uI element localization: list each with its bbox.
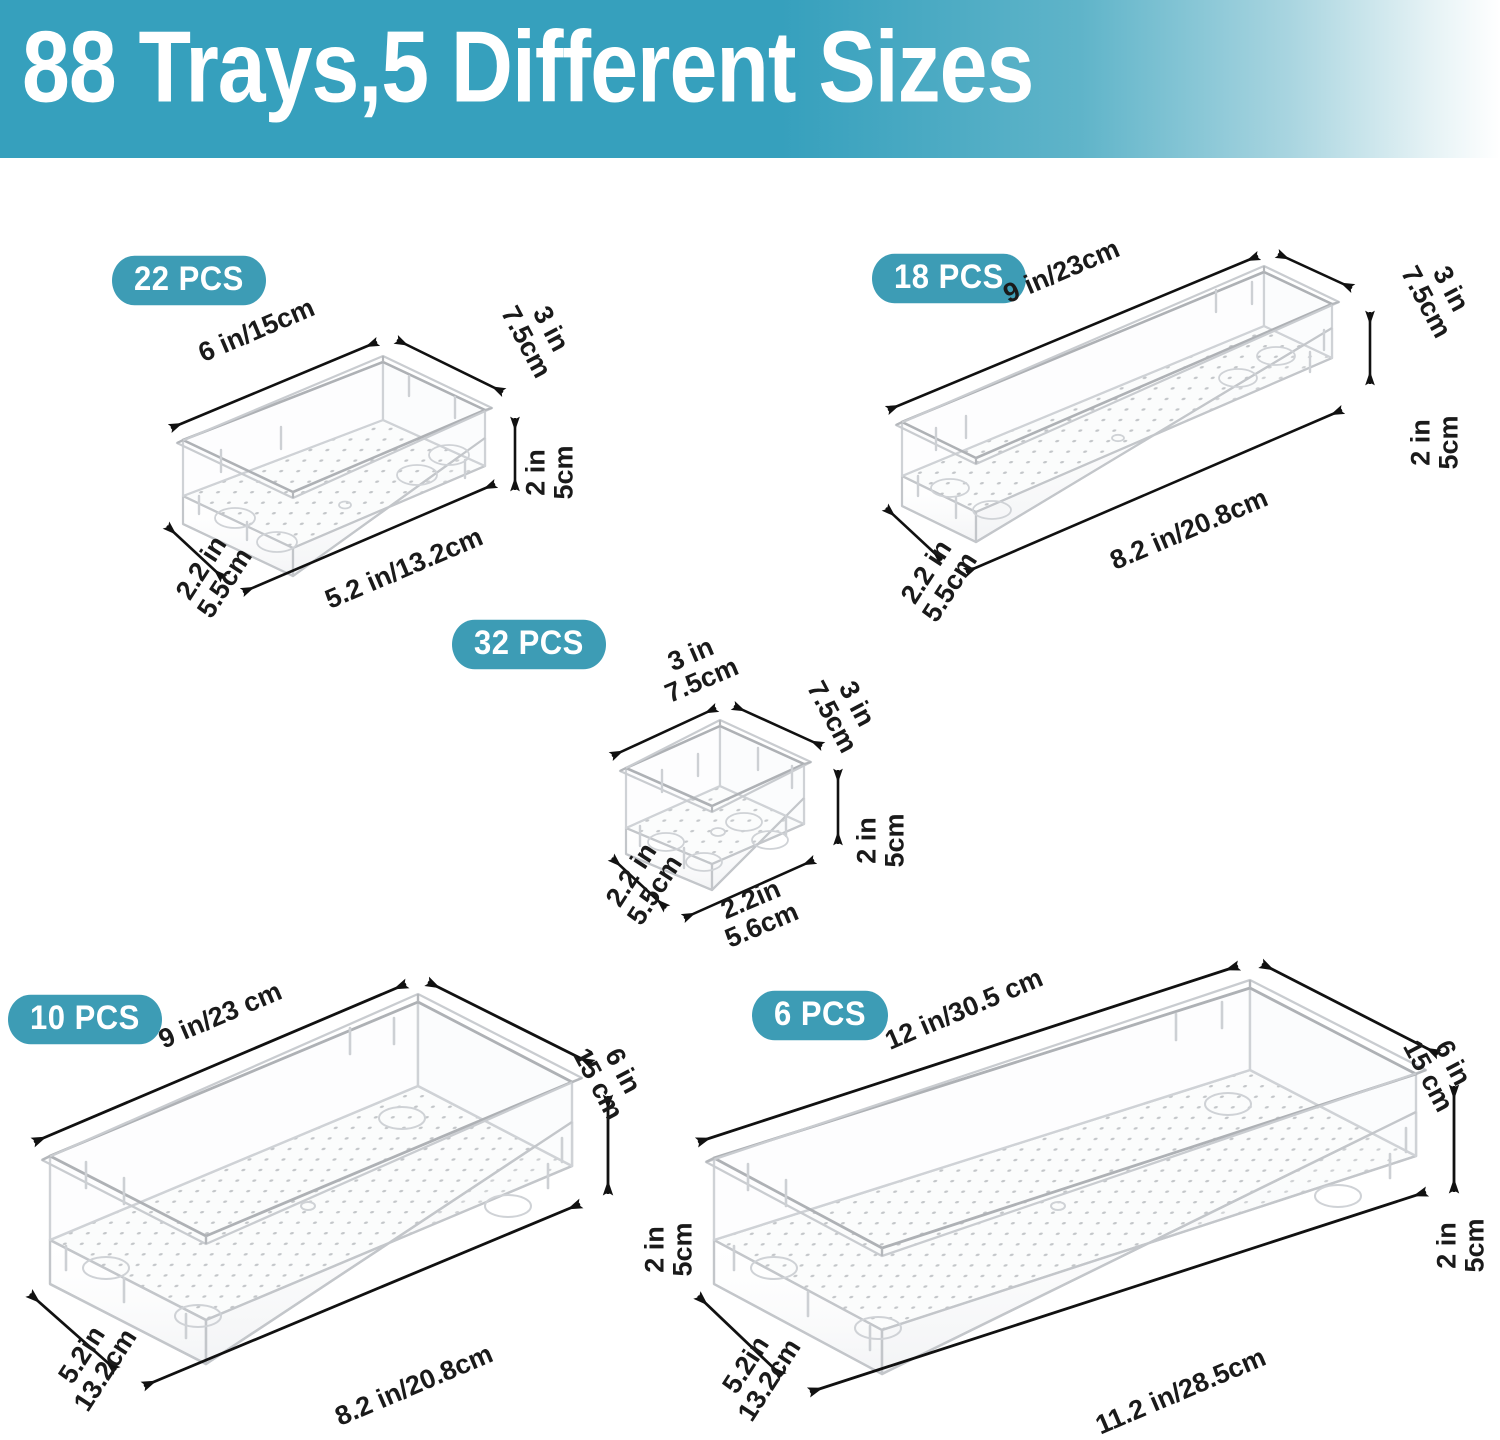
dim-label-18-height: 2 in 5cm [1407,416,1462,470]
header-banner: 88 Trays,5 Different Sizes [0,0,1500,158]
tray-figure-6pcs [690,1010,1490,1430]
dim-label-32-height: 2 in 5cm [853,814,908,868]
tray-illustration-6pcs [690,1010,1490,1430]
dim-label-6-height: 2 in 5cm [1433,1219,1488,1273]
badge-22-pcs: 22 PCS [112,256,266,305]
dim-label-22-height: 2 in 5cm [522,446,577,500]
dim-label-10-height: 2 in 5cm [641,1223,696,1277]
badge-32-pcs: 32 PCS [452,620,606,669]
page-title: 88 Trays,5 Different Sizes [22,9,1033,126]
